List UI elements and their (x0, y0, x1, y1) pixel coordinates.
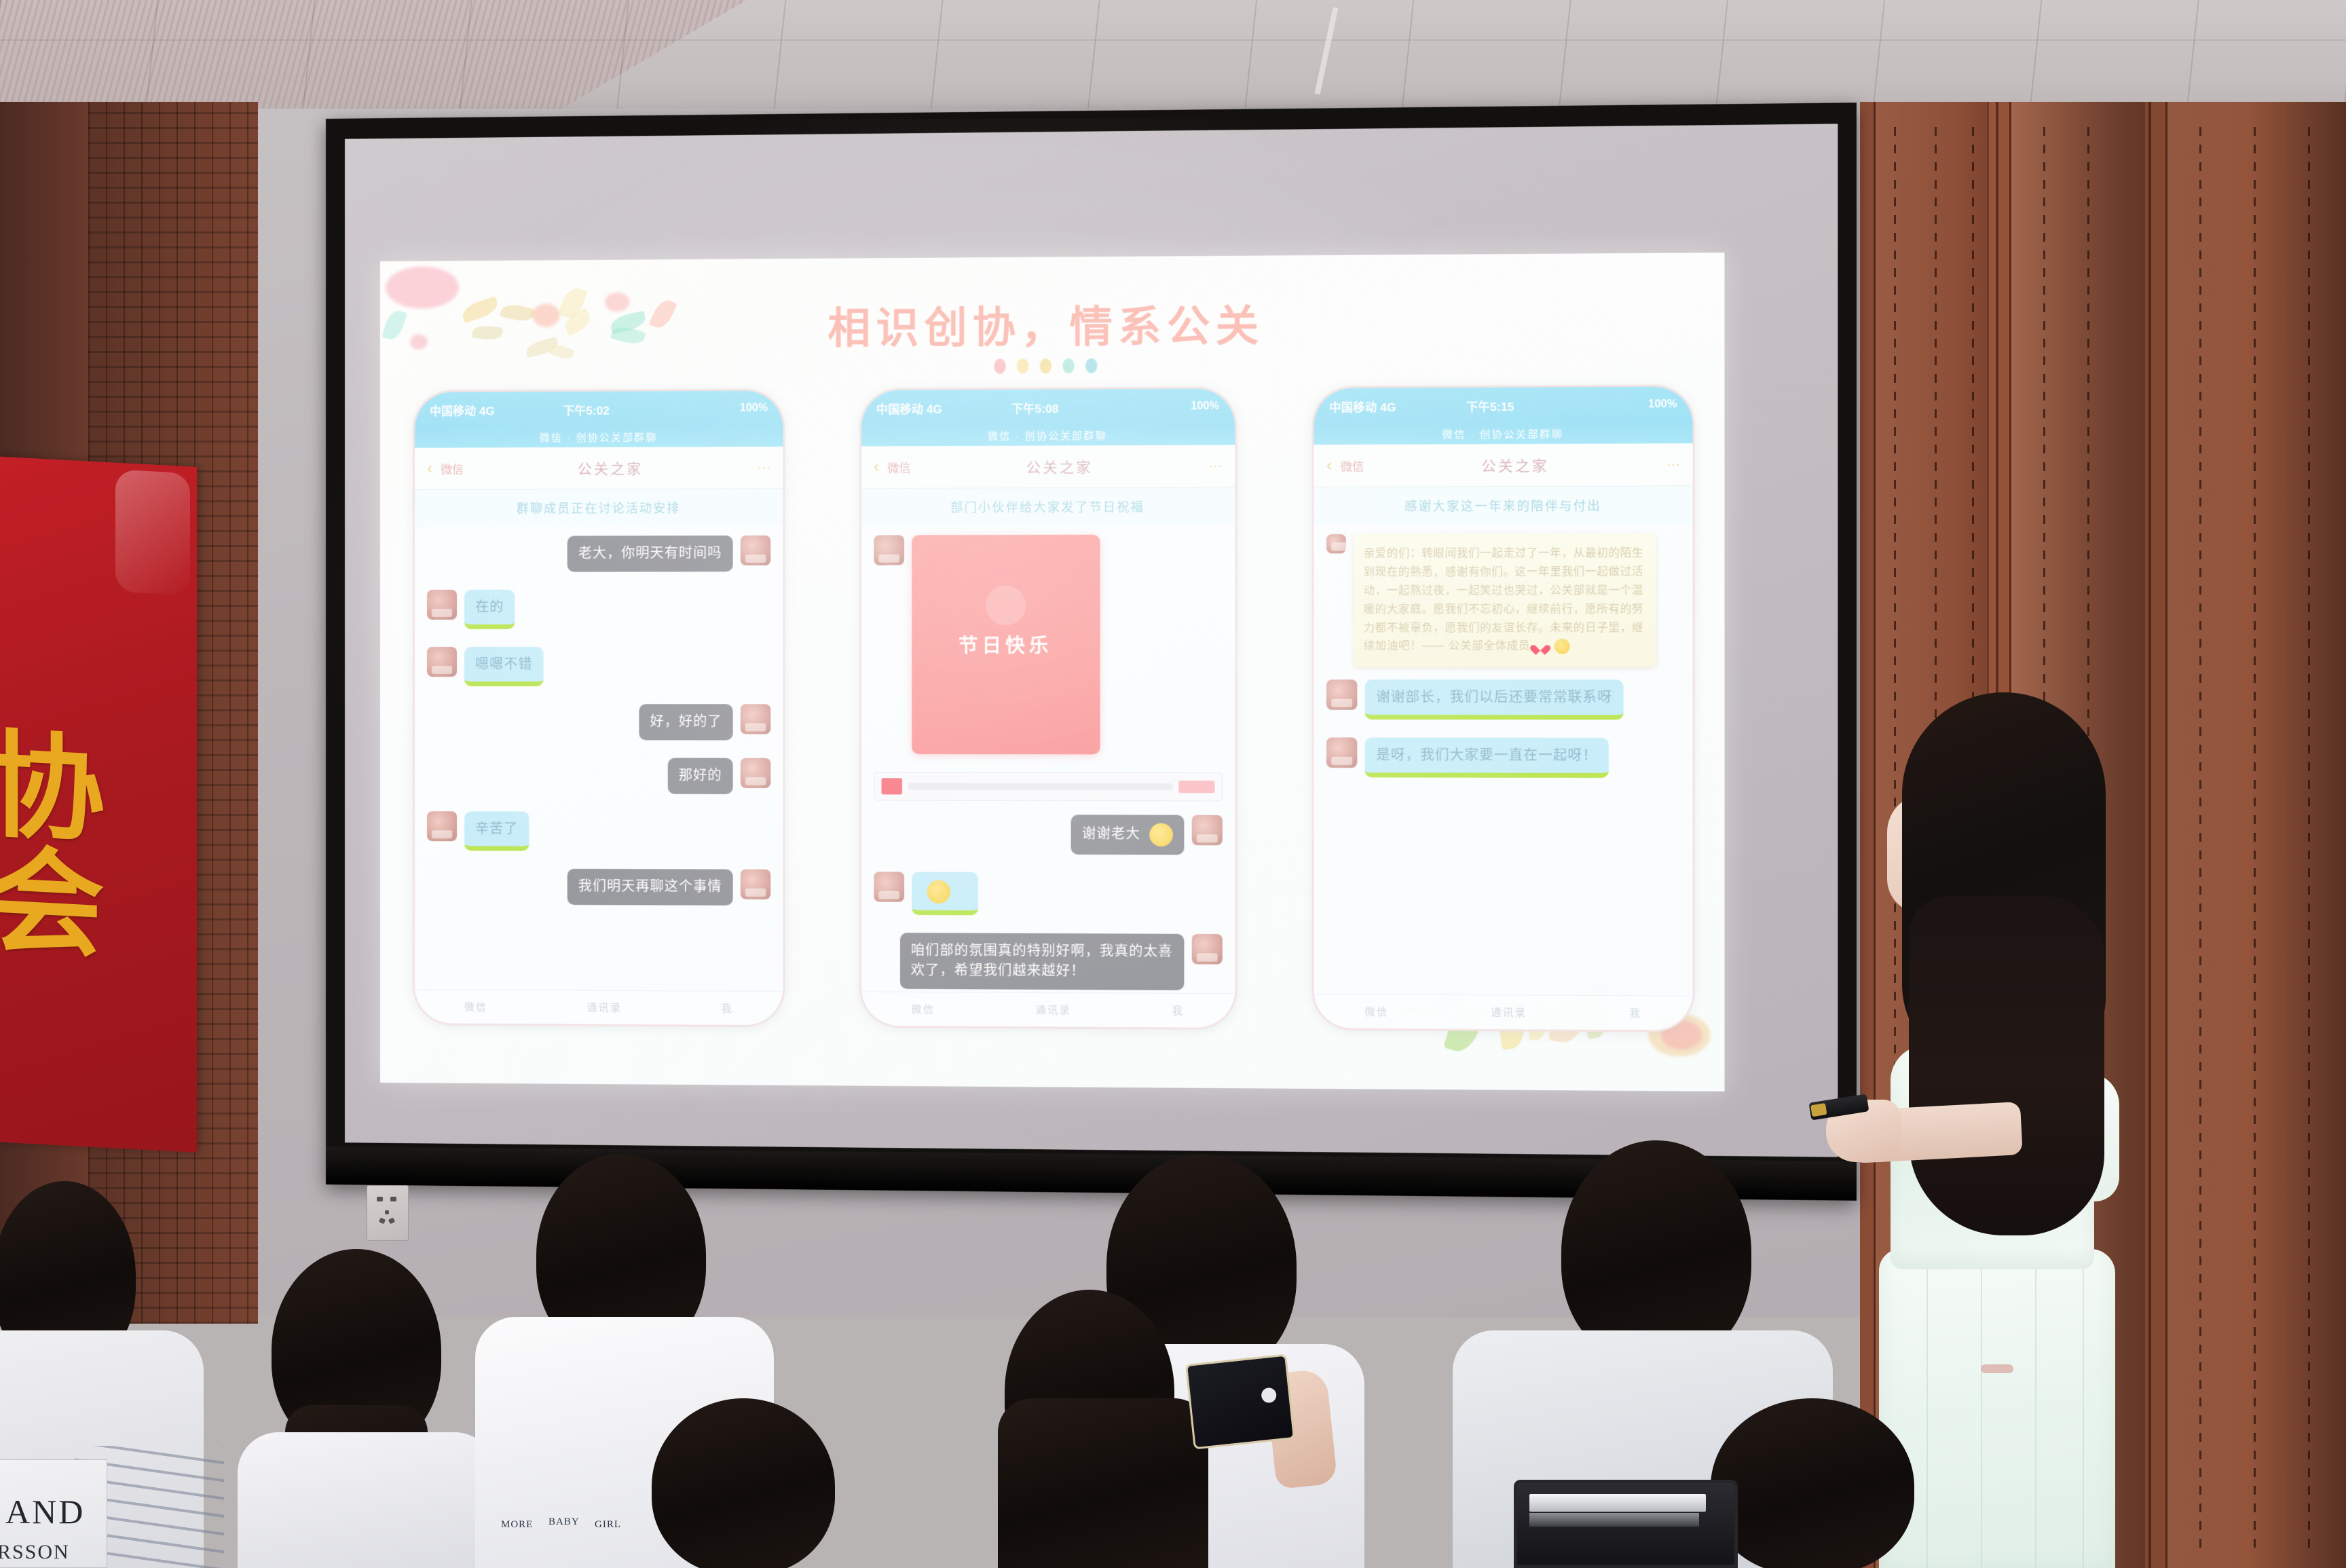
red-packet-label: 节日快乐 (958, 631, 1053, 658)
chat-message-redpacket: 节日快乐 (874, 534, 1222, 754)
wood-dotted-line-8 (2308, 122, 2310, 1548)
phone-2-battery: 100% (1191, 400, 1219, 413)
wood-dotted-line-6 (2199, 122, 2201, 1548)
laptop-screen-content (1529, 1513, 1699, 1527)
chat-bubble (912, 872, 978, 915)
socket-hole-2 (390, 1197, 396, 1201)
laptop[interactable] (1514, 1480, 1738, 1568)
audience-long-hair (998, 1398, 1208, 1568)
chat-message: 咱们部的氛围真的特别好啊，我真的太喜欢了，希望我们越来越好！ (874, 933, 1222, 990)
slide-title: 相识创协，情系公关 (380, 288, 1725, 358)
more-options-icon[interactable]: ··· (758, 460, 770, 475)
avatar (741, 536, 771, 565)
chat-message: 嗯嗯不错 (427, 647, 770, 686)
dot-pink (994, 358, 1005, 373)
back-chevron-icon[interactable]: ‹ (427, 459, 432, 478)
tab-wechat[interactable]: 微信 (1365, 1005, 1389, 1020)
chat-bubble: 那好的 (668, 758, 733, 794)
chat-bubble: 老大，你明天有时间吗 (567, 536, 733, 572)
laptop-screen-glare (1529, 1494, 1706, 1512)
long-note-text: 亲爱的们：转眼间我们一起走过了一年，从最初的陌生到现在的熟悉，感谢有你们。这一年… (1364, 547, 1644, 652)
chat-message: 谢谢部长，我们以后还要常常联系呀 (1326, 679, 1680, 720)
phone-3-banner: 感谢大家这一年来的陪伴与付出 (1314, 486, 1693, 524)
phone-3-time: 下午5:15 (1466, 396, 1514, 414)
skirt-pleat (1981, 1249, 1982, 1568)
red-packet-card[interactable]: 节日快乐 (912, 535, 1100, 755)
presenter-hair-long (1909, 896, 2104, 1235)
socket-hole-4 (379, 1218, 386, 1225)
phone-1-time: 下午5:02 (563, 400, 609, 417)
socket-hole-3 (385, 1210, 389, 1214)
chat-message: 老大，你明天有时间吗 (427, 536, 770, 572)
avatar (1326, 534, 1346, 553)
tab-contacts[interactable]: 通讯录 (1491, 1005, 1527, 1020)
phone-2-navbar: ‹ 微信 公关之家 ··· (861, 445, 1235, 489)
banner-gold-text: 协会 (0, 728, 186, 969)
shirt-text-more: MORE (501, 1519, 533, 1531)
dot-yellow (1016, 358, 1028, 373)
tab-me[interactable]: 我 (1172, 1003, 1184, 1018)
phone-2-time: 下午5:08 (1011, 398, 1058, 416)
phone-1-subbar: 微信 · 创协公关部群聊 (415, 426, 783, 448)
chat-bubble: 我们明天再聊这个事情 (567, 869, 733, 906)
phone-2-subbar: 微信 · 创协公关部群聊 (861, 424, 1235, 446)
tab-contacts[interactable]: 通讯录 (586, 1001, 621, 1015)
phone-2-banner: 部门小伙伴给大家发了节日祝福 (861, 487, 1235, 525)
chat-bubble-text: 谢谢老大 (1082, 827, 1140, 842)
avatar (741, 870, 771, 899)
phone-1-chat-list: 老大，你明天有时间吗 在的 嗯嗯不错 好，好的了 (415, 526, 783, 988)
phone-3-back-label[interactable]: 微信 (1341, 457, 1364, 474)
back-chevron-icon[interactable]: ‹ (1326, 456, 1332, 475)
phone-3-carrier: 中国移动 4G (1329, 397, 1396, 415)
chat-message: 辛苦了 (427, 811, 770, 851)
sun-emoji-icon (1149, 823, 1173, 847)
phone-3-tabbar: 微信 通讯录 我 (1314, 994, 1693, 1030)
badge-line-1: AND (5, 1492, 85, 1531)
phone-1-banner: 群聊成员正在讨论活动安排 (415, 489, 783, 527)
avatar (1191, 934, 1222, 965)
audience-shoulders (238, 1432, 496, 1568)
chat-message: 在的 (427, 589, 770, 629)
dot-gold (1039, 358, 1051, 373)
phone-3-battery: 100% (1648, 398, 1677, 411)
avatar (1326, 679, 1357, 710)
back-chevron-icon[interactable]: ‹ (874, 458, 879, 477)
wood-panel-3 (2165, 102, 2346, 1568)
phone-3-subbar: 微信 · 创协公关部群聊 (1314, 423, 1693, 445)
skirt-pleat (2083, 1249, 2084, 1568)
input-emoji-icon[interactable] (881, 778, 901, 794)
avatar (427, 647, 457, 677)
chat-bubble: 是呀，我们大家要一直在一起呀！ (1365, 738, 1609, 778)
phone-3-chat-title: 公关之家 (1373, 454, 1658, 476)
skirt-pleat (2035, 1249, 2036, 1568)
chat-bubble: 谢谢部长，我们以后还要常常联系呀 (1365, 679, 1624, 720)
audience-head-bob (652, 1398, 835, 1568)
dot-mint (1062, 358, 1074, 373)
phone-2-status-bar: 中国移动 4G 下午5:08 100% (861, 388, 1235, 426)
chat-bubble: 谢谢老大 (1071, 815, 1184, 855)
avatar (874, 535, 904, 565)
avatar (874, 872, 904, 902)
phone-mockup-1: 中国移动 4G 下午5:02 100% 微信 · 创协公关部群聊 ‹ 微信 公关… (413, 388, 785, 1027)
phone-3-status-bar: 中国移动 4G 下午5:15 100% (1314, 386, 1693, 424)
chat-bubble: 好，好的了 (639, 704, 732, 740)
phone-2-tabbar: 微信 通讯录 我 (861, 992, 1235, 1028)
shirt-text-girl: GIRL (595, 1519, 621, 1531)
smartphone-camera[interactable] (1185, 1354, 1295, 1450)
phone-2-chat-title: 公关之家 (919, 455, 1201, 477)
message-input-row[interactable] (874, 772, 1222, 801)
phone-2-chat-list: 节日快乐 谢谢老大 (861, 525, 1235, 990)
shirt-text-baby: BABY (548, 1516, 580, 1528)
chat-bubble: 咱们部的氛围真的特别好啊，我真的太喜欢了，希望我们越来越好！ (899, 933, 1183, 990)
tab-me[interactable]: 我 (722, 1001, 733, 1015)
phone-1-chat-title: 公关之家 (472, 458, 749, 479)
badge-line-2: RSSON (0, 1541, 70, 1564)
socket-hole-1 (377, 1197, 383, 1201)
chat-message: 好，好的了 (427, 704, 770, 741)
audience-head-far-right (1711, 1398, 1914, 1568)
phone-2-back-label[interactable]: 微信 (887, 458, 911, 475)
chat-bubble: 嗯嗯不错 (464, 647, 543, 686)
tab-wechat[interactable]: 微信 (464, 1000, 487, 1014)
sun-emoji-icon (927, 880, 950, 903)
phone-1-navbar: ‹ 微信 公关之家 ··· (415, 447, 783, 490)
wall-socket (367, 1185, 409, 1241)
phone-mockup-2: 中国移动 4G 下午5:08 100% 微信 · 创协公关部群聊 ‹ 微信 公关… (859, 386, 1237, 1030)
avatar (427, 590, 457, 620)
tab-contacts[interactable]: 通讯录 (1036, 1003, 1071, 1017)
sun-emoji-icon (1554, 639, 1569, 654)
chat-message: 我们明天再聊这个事情 (427, 868, 770, 906)
avatar (427, 811, 457, 841)
presenter-bracelet (1981, 1364, 2013, 1373)
avatar (1326, 738, 1357, 768)
chat-message-long-note: 亲爱的们：转眼间我们一起走过了一年，从最初的陌生到现在的熟悉，感谢有你们。这一年… (1326, 534, 1680, 667)
wood-dotted-line-7 (2254, 122, 2256, 1548)
tab-wechat[interactable]: 微信 (912, 1002, 935, 1016)
chat-message: 那好的 (427, 758, 770, 794)
presentation-slide: 相识创协，情系公关 中国移动 4G 下午5:02 100% 微信 · 创协公关部… (380, 253, 1725, 1091)
phone-mockup-3: 中国移动 4G 下午5:15 100% 微信 · 创协公关部群聊 ‹ 微信 公关… (1311, 384, 1694, 1032)
phone-1-tabbar: 微信 通讯录 我 (415, 989, 783, 1025)
phone-mockup-row: 中国移动 4G 下午5:02 100% 微信 · 创协公关部群聊 ‹ 微信 公关… (413, 384, 1695, 1077)
send-button[interactable] (1178, 781, 1214, 793)
chat-message: 谢谢老大 (874, 815, 1222, 855)
heart-emoji-icon (1533, 641, 1546, 652)
skirt-pleat (1926, 1249, 1928, 1568)
banner-highlight (115, 470, 190, 596)
avatar (741, 704, 771, 734)
avatar (1191, 815, 1222, 846)
more-options-icon[interactable]: ··· (1209, 458, 1222, 473)
slide-dot-row (380, 355, 1725, 377)
red-packet-coin-icon (986, 586, 1026, 626)
socket-hole-5 (388, 1218, 395, 1225)
phone-3-chat-list: 亲爱的们：转眼间我们一起走过了一年，从最初的陌生到现在的熟悉，感谢有你们。这一年… (1314, 524, 1693, 993)
chat-bubble: 在的 (464, 590, 515, 629)
phone-3-navbar: ‹ 微信 公关之家 ··· (1314, 443, 1693, 487)
presenter-skirt (1879, 1249, 2115, 1568)
phone-2-carrier: 中国移动 4G (876, 399, 942, 417)
camera-lens-icon (1261, 1387, 1277, 1403)
more-options-icon[interactable]: ··· (1667, 457, 1680, 472)
long-note-bubble: 亲爱的们：转眼间我们一起走过了一年，从最初的陌生到现在的熟悉，感谢有你们。这一年… (1354, 534, 1656, 667)
phone-1-carrier: 中国移动 4G (430, 401, 495, 418)
message-input-field[interactable] (908, 783, 1173, 790)
phone-1-battery: 100% (740, 403, 768, 415)
chat-message (874, 872, 1222, 916)
chat-bubble: 辛苦了 (464, 811, 529, 851)
photo-scene: 协会 (0, 0, 2346, 1568)
tab-me[interactable]: 我 (1629, 1006, 1641, 1021)
phone-1-status-bar: 中国移动 4G 下午5:02 100% (415, 390, 783, 427)
avatar (741, 758, 771, 788)
chat-message: 是呀，我们大家要一直在一起呀！ (1326, 738, 1680, 779)
phone-1-back-label[interactable]: 微信 (441, 460, 464, 477)
dot-teal (1085, 358, 1097, 373)
